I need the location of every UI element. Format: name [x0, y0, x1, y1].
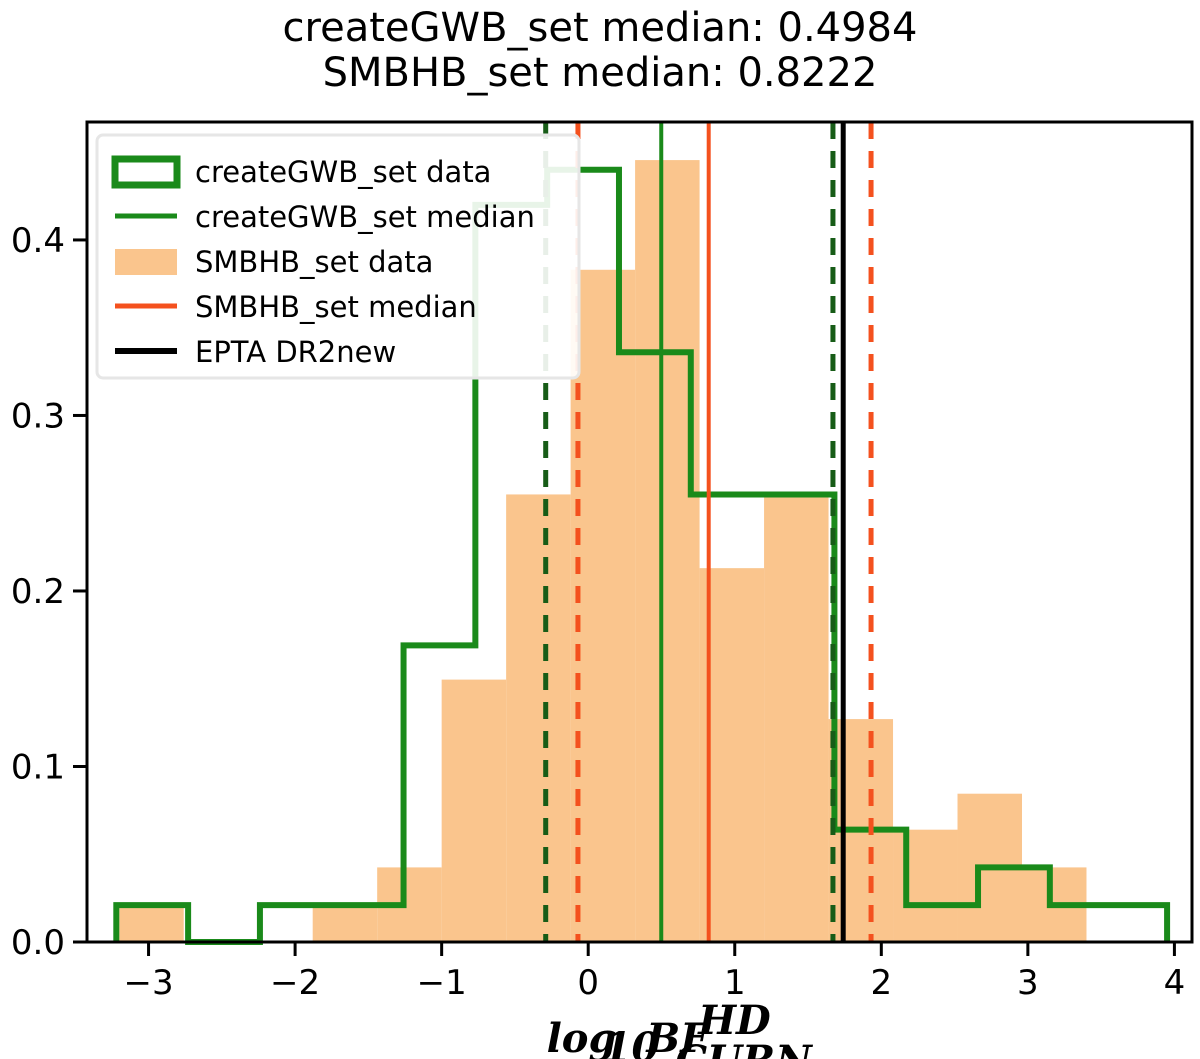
y-tick-label: 0.0	[11, 923, 65, 963]
xlabel-subscript: CURN	[675, 1037, 813, 1059]
x-tick-label: −1	[417, 963, 467, 1003]
legend-label: SMBHB_set median	[195, 290, 477, 324]
x-tick-label: 3	[1017, 963, 1039, 1003]
x-tick-label: 2	[870, 963, 892, 1003]
histogram-bar	[764, 494, 828, 942]
legend-label: createGWB_set data	[195, 155, 491, 189]
histogram-bar	[506, 494, 570, 942]
y-tick-label: 0.2	[11, 572, 65, 612]
x-tick-label: −3	[123, 963, 173, 1003]
x-tick-label: 4	[1164, 963, 1186, 1003]
legend-swatch-filled-rect	[115, 249, 177, 275]
histogram-bar	[313, 905, 377, 942]
y-tick-label: 0.1	[11, 747, 65, 787]
histogram-bar	[635, 160, 699, 942]
x-axis-label: log10BFHDCURN	[547, 997, 814, 1059]
legend-label: SMBHB_set data	[195, 245, 433, 279]
legend-label: createGWB_set median	[195, 200, 535, 234]
histogram-plot: −3−2−1012340.00.10.20.30.4 log10BFHDCURN…	[0, 0, 1200, 1059]
y-tick-label: 0.3	[11, 396, 65, 436]
histogram-bar	[119, 905, 183, 942]
histogram-bar	[442, 680, 506, 942]
legend: createGWB_set datacreateGWB_set medianSM…	[97, 135, 579, 378]
x-tick-label: 0	[577, 963, 599, 1003]
figure-canvas: createGWB_set median: 0.4984 SMBHB_set m…	[0, 0, 1200, 1059]
legend-label: EPTA DR2new	[195, 335, 396, 369]
y-tick-label: 0.4	[11, 221, 65, 261]
histogram-bar	[893, 830, 957, 942]
x-tick-label: −2	[270, 963, 320, 1003]
